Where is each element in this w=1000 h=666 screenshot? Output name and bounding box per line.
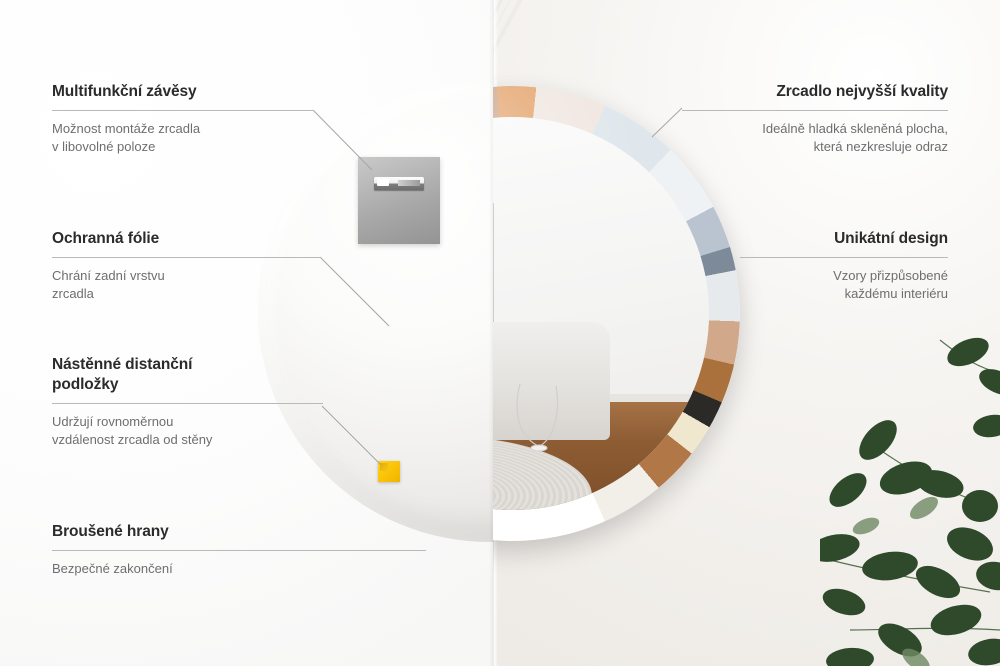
callout-rule	[682, 110, 948, 111]
callout-description-line-1: Udržují rovnoměrnou	[52, 413, 323, 431]
callout-rule	[52, 403, 323, 404]
callout-description-line-1: Ideálně hladká skleněná plocha,	[682, 120, 948, 138]
callout-multifunkcni-zavesy: Multifunkční závěsy Možnost montáže zrca…	[52, 82, 314, 157]
callout-rule	[52, 110, 314, 111]
callout-description-line-1: Vzory přizpůsobené	[740, 267, 948, 285]
callout-title: Ochranná fólie	[52, 229, 321, 249]
infographic-canvas: Multifunkční závěsy Možnost montáže zrca…	[0, 0, 1000, 666]
callout-title-line-2: podložky	[52, 375, 323, 395]
callout-rule	[52, 550, 426, 551]
spacer-pad-icon	[378, 461, 400, 482]
reflection-line-art-frame	[493, 203, 494, 327]
reflection-pendant-lamp	[512, 382, 588, 474]
callout-zrcadlo-nejvyssi-kvality: Zrcadlo nejvyšší kvality Ideálně hladká …	[682, 82, 948, 157]
callout-title: Zrcadlo nejvyšší kvality	[682, 82, 948, 102]
callout-description-line-1: Chrání zadní vrstvu	[52, 267, 321, 285]
callout-ochranna-folie: Ochranná fólie Chrání zadní vrstvu zrcad…	[52, 229, 321, 304]
callout-title: Unikátní design	[740, 229, 948, 249]
callout-title: Nástěnné distanční podložky	[52, 355, 323, 395]
callout-description: Udržují rovnoměrnou vzdálenost zrcadla o…	[52, 413, 323, 450]
mirror-glass	[493, 117, 709, 510]
callout-description: Vzory přizpůsobené každému interiéru	[740, 267, 948, 304]
callout-description: Bezpečné zakončení	[52, 560, 426, 578]
hanger-slot-icon	[374, 177, 424, 190]
callout-nastenne-distancni-podlozky: Nástěnné distanční podložky Udržují rovn…	[52, 355, 323, 450]
callout-rule	[740, 257, 948, 258]
callout-unikatni-design: Unikátní design Vzory přizpůsobené každé…	[740, 229, 948, 304]
callout-description: Ideálně hladká skleněná plocha, která ne…	[682, 120, 948, 157]
callout-title-line-1: Nástěnné distanční	[52, 355, 323, 375]
hanger-plate-icon	[358, 157, 440, 244]
callout-description-line-1: Bezpečné zakončení	[52, 560, 426, 578]
callout-description-line-2: v libovolné poloze	[52, 138, 314, 156]
callout-description-line-2: vzdálenost zrcadla od stěny	[52, 431, 323, 449]
callout-description-line-1: Možnost montáže zrcadla	[52, 120, 314, 138]
callout-description-line-2: která nezkresluje odraz	[682, 138, 948, 156]
callout-title: Multifunkční závěsy	[52, 82, 314, 102]
callout-title: Broušené hrany	[52, 522, 426, 542]
callout-description: Chrání zadní vrstvu zrcadla	[52, 267, 321, 304]
callout-description: Možnost montáže zrcadla v libovolné polo…	[52, 120, 314, 157]
callout-brousene-hrany: Broušené hrany Bezpečné zakončení	[52, 522, 426, 578]
callout-rule	[52, 257, 321, 258]
eucalyptus-leaves-decor	[820, 330, 1000, 666]
callout-description-line-2: každému interiéru	[740, 285, 948, 303]
callout-description-line-2: zrcadla	[52, 285, 321, 303]
